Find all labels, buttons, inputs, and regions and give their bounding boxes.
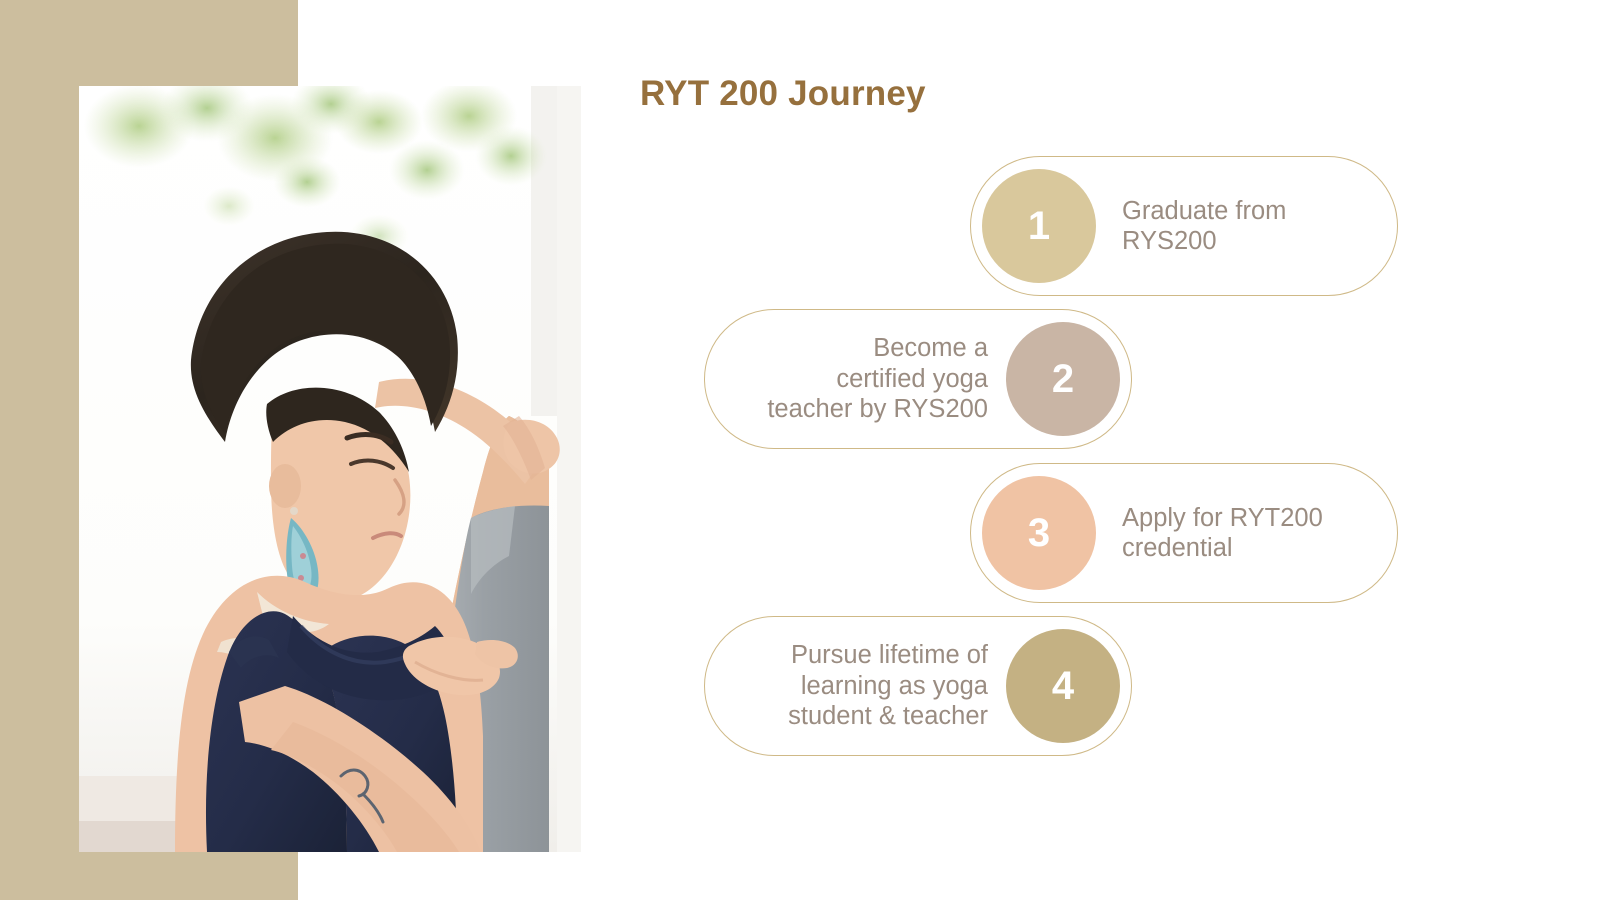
step-label-3: Apply for RYT200 credential <box>1096 503 1397 564</box>
journey-step-3[interactable]: 3 Apply for RYT200 credential <box>970 463 1398 603</box>
step-label-2: Become a certified yoga teacher by RYS20… <box>705 333 1006 424</box>
step-label-4: Pursue lifetime of learning as yoga stud… <box>705 640 1006 731</box>
journey-step-4[interactable]: 4 Pursue lifetime of learning as yoga st… <box>704 616 1132 756</box>
step-number-badge-2: 2 <box>1006 322 1120 436</box>
step-number-badge-3: 3 <box>982 476 1096 590</box>
journey-step-1[interactable]: 1 Graduate from RYS200 <box>970 156 1398 296</box>
step-number-badge-4: 4 <box>1006 629 1120 743</box>
step-label-1: Graduate from RYS200 <box>1096 196 1397 257</box>
slide-canvas: RYT 200 Journey 1 Graduate from RYS200 2… <box>0 0 1600 900</box>
step-number-badge-1: 1 <box>982 169 1096 283</box>
journey-step-2[interactable]: 2 Become a certified yoga teacher by RYS… <box>704 309 1132 449</box>
journey-steps: 1 Graduate from RYS200 2 Become a certif… <box>0 0 1600 900</box>
